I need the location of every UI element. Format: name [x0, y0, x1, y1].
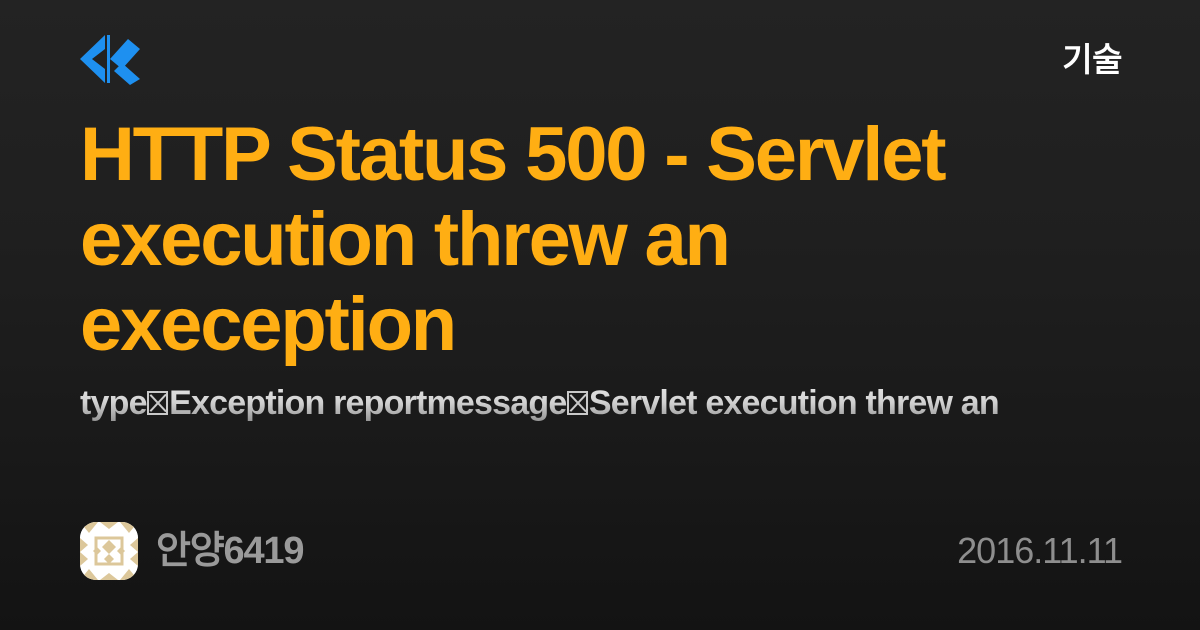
- author-block[interactable]: 안양6419: [80, 522, 303, 580]
- card-footer: 안양6419 2016.11.11: [80, 520, 1122, 582]
- page-title: HTTP Status 500 - Servlet execution thre…: [80, 112, 1122, 367]
- category-label: 기술: [1062, 43, 1122, 76]
- summary-segment-3: Servlet execution threw an: [589, 384, 999, 422]
- missing-glyph-icon: [567, 391, 588, 415]
- tistory-logo-icon[interactable]: [80, 33, 146, 85]
- summary-segment-1: type: [80, 384, 147, 422]
- post-date: 2016.11.11: [957, 533, 1122, 569]
- post-summary: typeException reportmessageServlet execu…: [80, 381, 1122, 427]
- card-content: HTTP Status 500 - Servlet execution thre…: [80, 112, 1122, 427]
- card-header: 기술: [0, 0, 1200, 118]
- og-share-card: 기술 HTTP Status 500 - Servlet execution t…: [0, 0, 1200, 630]
- summary-segment-2: Exception reportmessage: [169, 384, 566, 422]
- author-avatar: [80, 522, 138, 580]
- author-name: 안양6419: [156, 532, 303, 570]
- missing-glyph-icon: [147, 391, 168, 415]
